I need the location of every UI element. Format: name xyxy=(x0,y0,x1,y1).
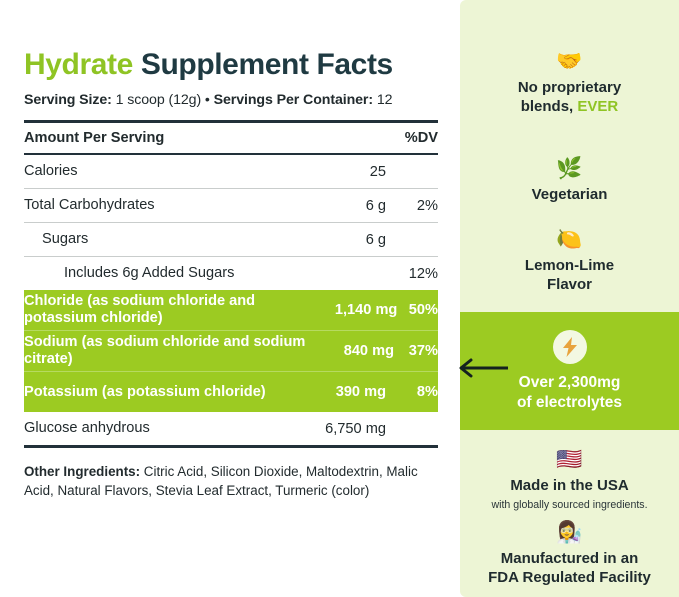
row-dv: 50% xyxy=(397,302,438,318)
row-amount: 840 mg xyxy=(313,343,394,359)
electrolytes-highlight-block: Chloride (as sodium chloride and potassi… xyxy=(24,290,438,412)
table-row: Total Carbohydrates 6 g 2% xyxy=(24,189,438,222)
row-amount: 6 g xyxy=(290,198,386,214)
row-amount: 25 xyxy=(290,164,386,180)
benefit-line-2: blends, EVER xyxy=(518,98,621,117)
benefit-line-1: No proprietary xyxy=(518,79,621,98)
table-row: Glucose anhydrous 6,750 mg xyxy=(24,412,438,445)
table-row: Chloride (as sodium chloride and potassi… xyxy=(24,290,438,330)
benefits-sidebar: 🤝 No proprietary blends, EVER 🌿 Vegetari… xyxy=(460,0,679,597)
row-dv: 8% xyxy=(386,384,438,400)
table-header-row: Amount Per Serving %DV xyxy=(24,123,438,153)
leaf-icon: 🌿 xyxy=(556,158,582,179)
row-label: Sodium (as sodium chloride and sodium ci… xyxy=(24,334,313,368)
table-bottom-rule xyxy=(24,445,438,448)
lemon-icon: 🍋 xyxy=(556,229,582,250)
benefit-vegetarian: 🌿 Vegetarian xyxy=(460,150,679,212)
handshake-icon: 🤝 xyxy=(556,51,582,72)
benefit-line-1: Lemon-Lime xyxy=(525,257,614,276)
lightning-bolt-icon xyxy=(553,330,587,364)
row-label: Potassium (as potassium chloride) xyxy=(24,384,290,401)
benefit-line-2: FDA Regulated Facility xyxy=(488,569,651,588)
row-label: Calories xyxy=(24,163,290,180)
table-row: Sugars 6 g xyxy=(24,223,438,256)
benefit-accent-word: EVER xyxy=(577,98,618,115)
other-ingredients-label: Other Ingredients: xyxy=(24,464,140,479)
serving-size-label: Serving Size: xyxy=(24,92,112,108)
benefit-fda-facility: 👩‍🔬 Manufactured in an FDA Regulated Fac… xyxy=(460,522,679,597)
table-row: Potassium (as potassium chloride) 390 mg… xyxy=(24,372,438,412)
row-amount: 1,140 mg xyxy=(322,302,397,318)
nutrition-table: Amount Per Serving %DV Calories 25 Total… xyxy=(24,123,438,448)
column-header-dv: %DV xyxy=(386,130,438,146)
benefit-label: Vegetarian xyxy=(532,186,608,205)
benefit-label: Over 2,300mg of electrolytes xyxy=(517,373,622,412)
benefit-line-2: of electrolytes xyxy=(517,393,622,412)
callout-arrow-icon xyxy=(449,358,509,378)
benefit-label: No proprietary blends, EVER xyxy=(518,79,621,117)
row-amount: 6,750 mg xyxy=(290,421,386,437)
row-label: Includes 6g Added Sugars xyxy=(24,265,290,282)
benefit-line-2: Flavor xyxy=(525,276,614,295)
scientist-icon: 👩‍🔬 xyxy=(556,522,582,543)
title-rest-text: Supplement Facts xyxy=(133,48,393,81)
benefit-subtext: with globally sourced ingredients. xyxy=(491,499,647,513)
benefit-label: Manufactured in an FDA Regulated Facilit… xyxy=(488,550,651,588)
row-dv: 2% xyxy=(386,198,438,214)
page-title: Hydrate Supplement Facts xyxy=(24,48,438,81)
benefit-flavor: 🍋 Lemon-Lime Flavor xyxy=(460,212,679,312)
row-dv: 12% xyxy=(386,266,438,282)
row-amount: 390 mg xyxy=(290,384,386,400)
servings-per-container-label: Servings Per Container: xyxy=(214,92,373,108)
benefit-no-proprietary-blends: 🤝 No proprietary blends, EVER xyxy=(460,0,679,150)
supplement-facts-panel: Hydrate Supplement Facts Serving Size: 1… xyxy=(0,0,460,597)
row-label: Sugars xyxy=(24,231,290,248)
row-label: Glucose anhydrous xyxy=(24,420,290,437)
benefit-label: Lemon-Lime Flavor xyxy=(525,257,614,295)
supplement-label-graphic: Hydrate Supplement Facts Serving Size: 1… xyxy=(0,0,679,597)
benefit-line-1: Over 2,300mg xyxy=(517,373,622,392)
table-row: Sodium (as sodium chloride and sodium ci… xyxy=(24,331,438,371)
row-amount: 6 g xyxy=(290,232,386,248)
benefit-made-in-usa: 🇺🇸 Made in the USA with globally sourced… xyxy=(460,430,679,522)
servings-per-container-value: 12 xyxy=(373,92,392,108)
other-ingredients: Other Ingredients: Citric Acid, Silicon … xyxy=(24,462,438,501)
row-label: Total Carbohydrates xyxy=(24,197,290,214)
row-dv: 37% xyxy=(394,343,438,359)
title-brand-word: Hydrate xyxy=(24,48,133,81)
table-row: Includes 6g Added Sugars 12% xyxy=(24,257,438,290)
serving-size-value: 1 scoop (12g) • xyxy=(112,92,214,108)
usa-flag-icon: 🇺🇸 xyxy=(556,449,582,470)
table-row: Calories 25 xyxy=(24,155,438,188)
column-header-amount: Amount Per Serving xyxy=(24,130,290,147)
row-label: Chloride (as sodium chloride and potassi… xyxy=(24,293,322,327)
serving-info: Serving Size: 1 scoop (12g) • Servings P… xyxy=(24,92,438,108)
benefit-label: Made in the USA xyxy=(510,477,628,496)
benefit-line-2-text: blends, xyxy=(521,98,578,115)
benefit-line-1: Manufactured in an xyxy=(488,550,651,569)
